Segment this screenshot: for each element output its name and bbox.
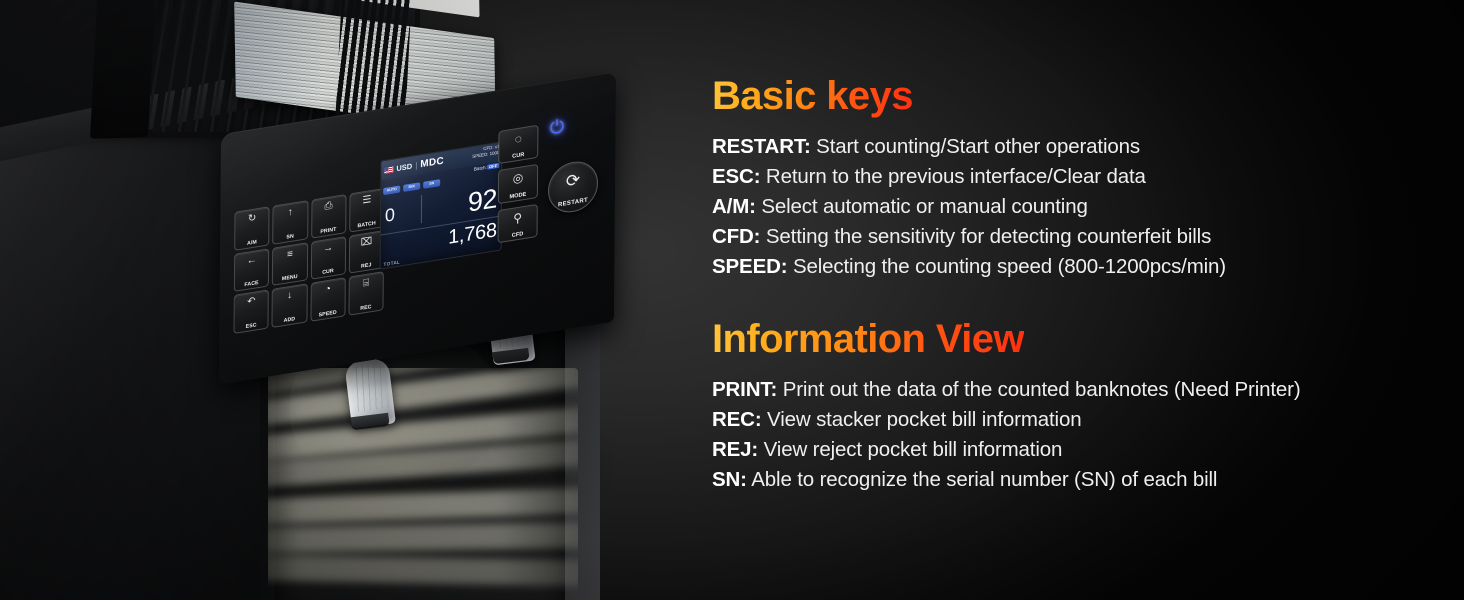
- lcd-currency: USD: [396, 162, 412, 174]
- list-item: A/M: Select automatic or manual counting: [712, 192, 1452, 222]
- key-cur-side[interactable]: ◌ CUR: [498, 125, 538, 165]
- mode-icon: ◎: [499, 168, 537, 188]
- lcd-chip: AUTO: [383, 185, 400, 195]
- list-item: SN: Able to recognize the serial number …: [712, 465, 1452, 495]
- basic-keys-list: RESTART: Start counting/Start other oper…: [712, 132, 1452, 282]
- key-description: Return to the previous interface/Clear d…: [760, 165, 1145, 188]
- key-description: Select automatic or manual counting: [756, 195, 1088, 218]
- lcd-batch-label: Batch:: [474, 165, 487, 172]
- currency-icon: ◌: [499, 129, 537, 149]
- key-sn[interactable]: ↑ SN: [272, 200, 308, 244]
- key-print[interactable]: ⎙ PRINT: [311, 194, 347, 238]
- key-name: REJ:: [712, 438, 758, 461]
- list-item: PRINT: Print out the data of the counted…: [712, 375, 1452, 405]
- us-flag-icon: [384, 166, 393, 173]
- key-am[interactable]: ↻ A/M: [234, 206, 270, 250]
- arrow-left-icon: ←: [235, 252, 268, 268]
- side-key-group[interactable]: ◌ CUR ◎ MODE ⚲ CFD: [498, 125, 539, 244]
- lcd-settings-readout: CFD: x1 SPEED: 1000: [472, 144, 499, 160]
- key-cur[interactable]: → CUR: [310, 236, 346, 280]
- list-item: SPEED: Selecting the counting speed (800…: [712, 252, 1452, 282]
- key-name: CFD:: [712, 225, 760, 248]
- section-title-information-view: Information View: [712, 317, 1024, 361]
- key-label: REJ: [350, 261, 383, 272]
- key-name: ESC:: [712, 165, 760, 188]
- list-item: REJ: View reject pocket bill information: [712, 435, 1452, 465]
- key-cfd-side[interactable]: ⚲ CFD: [498, 204, 538, 244]
- batch-icon: ☰: [350, 192, 383, 208]
- key-name: PRINT:: [712, 378, 777, 401]
- magnifier-icon: ⚲: [499, 208, 537, 228]
- key-description: View reject pocket bill information: [758, 438, 1062, 461]
- lcd-total-label: TOTAL: [384, 260, 400, 268]
- arrow-up-icon: ↑: [274, 204, 307, 220]
- key-label: FACE: [235, 279, 268, 290]
- record-list-icon: ⌸: [349, 276, 382, 292]
- promo-banner: ↻ A/M ↑ SN ⎙ PRINT ☰ BATCH ← FACE ≡ MENU: [0, 0, 1464, 600]
- lcd-chip: MIX: [403, 182, 420, 192]
- money-counter-machine-photo: ↻ A/M ↑ SN ⎙ PRINT ☰ BATCH ← FACE ≡ MENU: [0, 0, 670, 600]
- lcd-total-value: 1,768: [448, 219, 497, 250]
- key-add[interactable]: ↓ ADD: [272, 284, 308, 328]
- key-speed[interactable]: ◔ SPEED: [310, 278, 346, 322]
- key-label: MODE: [499, 190, 537, 202]
- list-item: ESC: Return to the previous interface/Cl…: [712, 162, 1452, 192]
- key-description: Setting the sensitivity for detecting co…: [760, 225, 1211, 248]
- refresh-icon: ↻: [235, 210, 268, 226]
- lcd-chip: SN: [423, 179, 440, 189]
- key-label: CUR: [499, 150, 537, 162]
- lcd-separator: |: [415, 161, 417, 170]
- key-name: A/M:: [712, 195, 756, 218]
- lcd-count-value: 92: [468, 183, 497, 219]
- key-description: Selecting the counting speed (800-1200pc…: [787, 255, 1226, 278]
- key-label: MENU: [273, 273, 306, 284]
- key-label: SN: [273, 231, 306, 242]
- power-icon: ⏻: [550, 116, 564, 138]
- hopper-right-fins: [335, 0, 414, 118]
- list-item: RESTART: Start counting/Start other oper…: [712, 132, 1452, 162]
- back-arrow-icon: ↶: [235, 294, 268, 310]
- key-name: RESTART:: [712, 135, 811, 158]
- section-title-basic-keys: Basic keys: [712, 74, 913, 118]
- arrow-right-icon: →: [312, 240, 345, 256]
- key-description: Print out the data of the counted bankno…: [777, 378, 1300, 401]
- keypad[interactable]: ↻ A/M ↑ SN ⎙ PRINT ☰ BATCH ← FACE ≡ MENU: [233, 188, 384, 334]
- speed-gauge-icon: ◔: [311, 282, 344, 298]
- key-description: Start counting/Start other operations: [811, 135, 1140, 158]
- key-label: CUR: [311, 267, 344, 278]
- restart-icon: ⟳: [549, 167, 597, 195]
- bill-layer: [268, 554, 578, 587]
- printer-icon: ⎙: [312, 198, 345, 214]
- key-label: BATCH: [350, 219, 383, 230]
- feature-text-column: Basic keys RESTART: Start counting/Start…: [712, 0, 1452, 600]
- information-view-list: PRINT: Print out the data of the counted…: [712, 375, 1452, 495]
- key-mode-side[interactable]: ◎ MODE: [498, 164, 538, 204]
- bill-layer: [268, 521, 578, 554]
- key-name: REC:: [712, 408, 762, 431]
- list-item: CFD: Setting the sensitivity for detecti…: [712, 222, 1452, 252]
- menu-icon: ≡: [273, 246, 306, 262]
- key-label: PRINT: [312, 225, 345, 236]
- list-item: REC: View stacker pocket bill informatio…: [712, 405, 1452, 435]
- key-description: Able to recognize the serial number (SN)…: [747, 468, 1217, 491]
- key-esc[interactable]: ↶ ESC: [233, 290, 269, 334]
- reject-x-icon: ⌧: [350, 234, 383, 250]
- lcd-display: USD | MDC CFD: x1 SPEED: 1000 Batch:OFF …: [380, 141, 503, 270]
- lcd-left-value: 0: [385, 204, 395, 227]
- key-rec[interactable]: ⌸ REC: [348, 271, 384, 315]
- key-label: A/M: [235, 237, 268, 248]
- counted-banknotes-motion-blur: [268, 368, 578, 593]
- hopper-left-wall: [90, 0, 158, 139]
- key-menu[interactable]: ≡ MENU: [272, 242, 308, 286]
- power-button[interactable]: ⏻: [546, 114, 568, 142]
- key-name: SN:: [712, 468, 747, 491]
- lcd-mode: MDC: [420, 156, 444, 171]
- arrow-down-icon: ↓: [273, 288, 306, 304]
- key-name: SPEED:: [712, 255, 787, 278]
- key-face[interactable]: ← FACE: [234, 248, 270, 292]
- key-description: View stacker pocket bill information: [762, 408, 1082, 431]
